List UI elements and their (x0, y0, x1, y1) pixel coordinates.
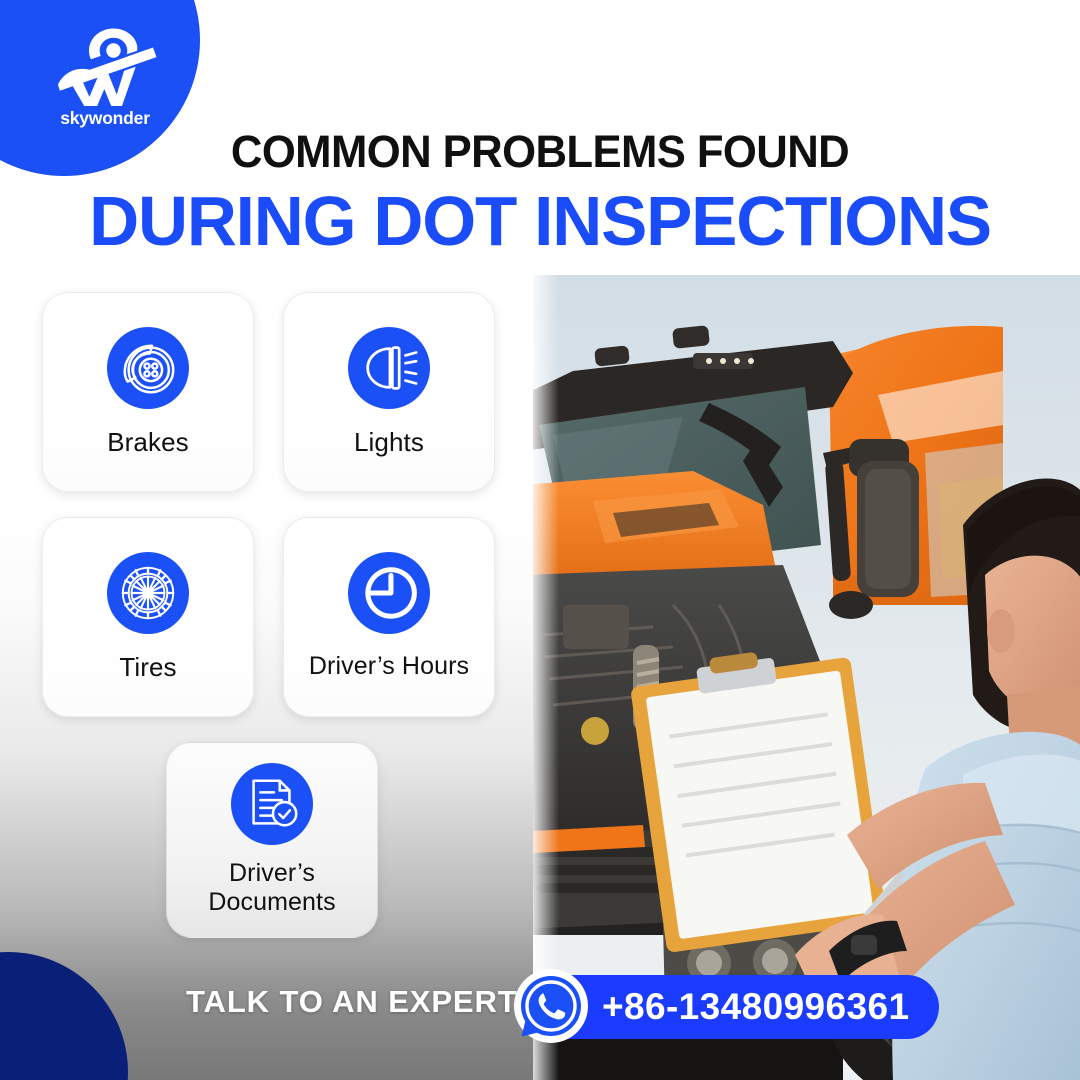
headlight-icon (348, 327, 430, 409)
phone-pill[interactable]: +86-13480996361 (536, 975, 939, 1039)
brake-rotor-icon (107, 327, 189, 409)
docs-label-line2: Documents (208, 888, 335, 916)
headline-line-2: DURING DOT INSPECTIONS (5, 186, 1074, 257)
card-label-drivers-documents: Driver’sDocuments (208, 859, 335, 918)
headline-line-1: COMMON PROBLEMS FOUND (16, 128, 1064, 175)
brand-wordmark: skywonder (60, 108, 150, 129)
poster-canvas: skywonder COMMON PROBLEMS FOUND DURING D… (0, 0, 1080, 1080)
card-drivers-hours[interactable]: Driver’s Hours (283, 517, 495, 717)
cta-label: TALK TO AN EXPERT: (186, 984, 525, 1020)
docs-label-line1: Driver’s (229, 859, 315, 887)
cta-phone-number: +86-13480996361 (602, 986, 909, 1028)
clock-icon (348, 552, 430, 634)
whatsapp-icon[interactable] (511, 966, 591, 1046)
card-brakes[interactable]: Brakes (42, 292, 254, 492)
tire-wheel-icon (107, 552, 189, 634)
brand-logo: skywonder (30, 24, 180, 144)
skywonder-logo-icon (51, 24, 159, 106)
card-label-tires: Tires (119, 652, 176, 683)
card-label-drivers-hours: Driver’s Hours (309, 652, 469, 682)
document-check-icon (231, 763, 313, 845)
page-title: COMMON PROBLEMS FOUND DURING DOT INSPECT… (0, 128, 1080, 258)
card-label-lights: Lights (354, 427, 424, 458)
card-tires[interactable]: Tires (42, 517, 254, 717)
card-label-brakes: Brakes (107, 427, 189, 458)
card-lights[interactable]: Lights (283, 292, 495, 492)
dot-inspection-photo (533, 275, 1080, 1080)
card-drivers-documents[interactable]: Driver’sDocuments (166, 742, 378, 938)
